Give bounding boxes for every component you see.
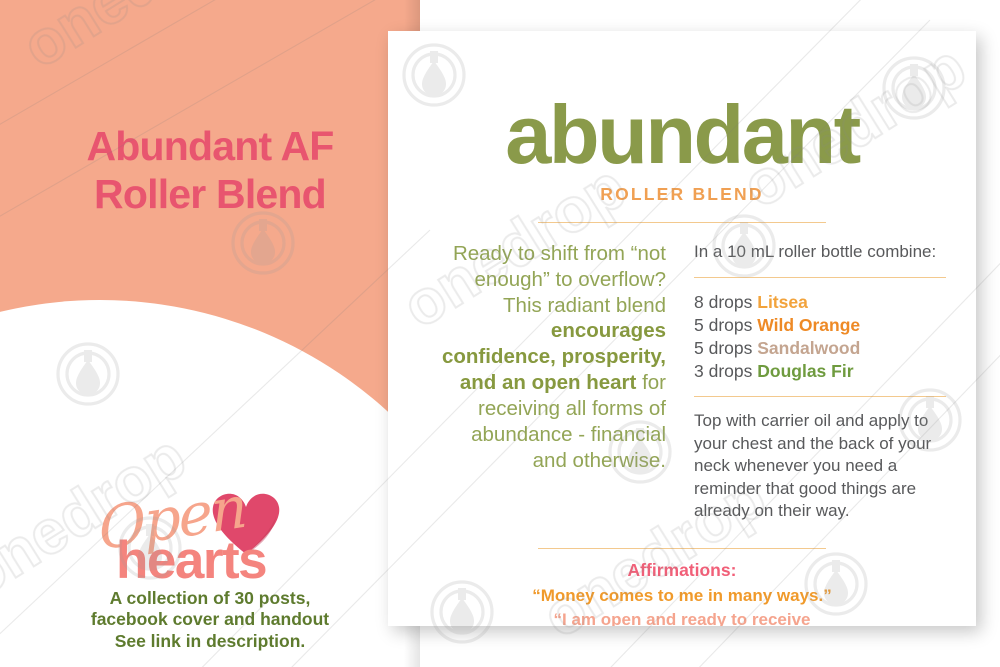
- headline-line-2: Roller Blend: [0, 170, 420, 218]
- affirmation-quote-2: “I am open and ready to receive all the …: [388, 609, 976, 627]
- blend-subtitle: ROLLER BLEND: [388, 184, 976, 205]
- oil-row: 3 drops Douglas Fir: [694, 360, 946, 383]
- oil-amount: 3 drops: [694, 361, 752, 381]
- affirmation-quote-1: “Money comes to me in many ways.”: [388, 586, 976, 606]
- oil-row: 5 drops Sandalwood: [694, 337, 946, 360]
- instructions-intro: In a 10 mL roller bottle combine:: [694, 241, 946, 264]
- poster-headline: Abundant AF Roller Blend: [0, 122, 420, 219]
- recipe-details: In a 10 mL roller bottle combine: 8 drop…: [694, 241, 946, 523]
- logo-bold-word: hearts: [116, 530, 266, 591]
- divider-affirmations: [538, 548, 826, 549]
- divider-recipe-top: [694, 277, 946, 278]
- usage-instructions: Top with carrier oil and apply to your c…: [694, 410, 946, 523]
- caption-line-1: A collection of 30 posts,: [0, 588, 420, 609]
- oil-name: Sandalwood: [757, 338, 860, 358]
- oil-name: Litsea: [757, 292, 808, 312]
- caption-line-2: facebook cover and handout: [0, 609, 420, 630]
- oil-list: 8 drops Litsea 5 drops Wild Orange 5 dro…: [694, 291, 946, 383]
- oil-name: Wild Orange: [757, 315, 860, 335]
- oil-row: 8 drops Litsea: [694, 291, 946, 314]
- affirmation-quote-2-line-1: “I am open and ready to receive: [388, 609, 976, 627]
- description-text-before: Ready to shift from “not enough” to over…: [453, 242, 666, 317]
- oil-amount: 8 drops: [694, 292, 752, 312]
- divider-top: [538, 222, 826, 223]
- logo-mark: Open hearts: [80, 488, 340, 580]
- blend-title: abundant: [388, 93, 976, 176]
- description-text-bold: encourages confidence, prosperity, and a…: [442, 319, 666, 394]
- open-hearts-logo: Open hearts A collection of 30 posts, fa…: [0, 488, 420, 667]
- divider-recipe-bottom: [694, 396, 946, 397]
- oil-name: Douglas Fir: [757, 361, 853, 381]
- affirmations-section: Affirmations: “Money comes to me in many…: [388, 548, 976, 627]
- blend-description: Ready to shift from “not enough” to over…: [438, 241, 666, 523]
- oil-amount: 5 drops: [694, 338, 752, 358]
- poster-canvas: Abundant AF Roller Blend Open hearts A c…: [0, 0, 1000, 667]
- logo-caption: A collection of 30 posts, facebook cover…: [0, 588, 420, 652]
- caption-line-3: See link in description.: [0, 631, 420, 652]
- affirmations-title: Affirmations:: [388, 560, 976, 581]
- headline-line-1: Abundant AF: [0, 122, 420, 170]
- oil-amount: 5 drops: [694, 315, 752, 335]
- oil-row: 5 drops Wild Orange: [694, 314, 946, 337]
- card-columns: Ready to shift from “not enough” to over…: [388, 241, 976, 523]
- recipe-card: abundant ROLLER BLEND Ready to shift fro…: [388, 31, 976, 626]
- recipe-card-inner: abundant ROLLER BLEND Ready to shift fro…: [388, 93, 976, 626]
